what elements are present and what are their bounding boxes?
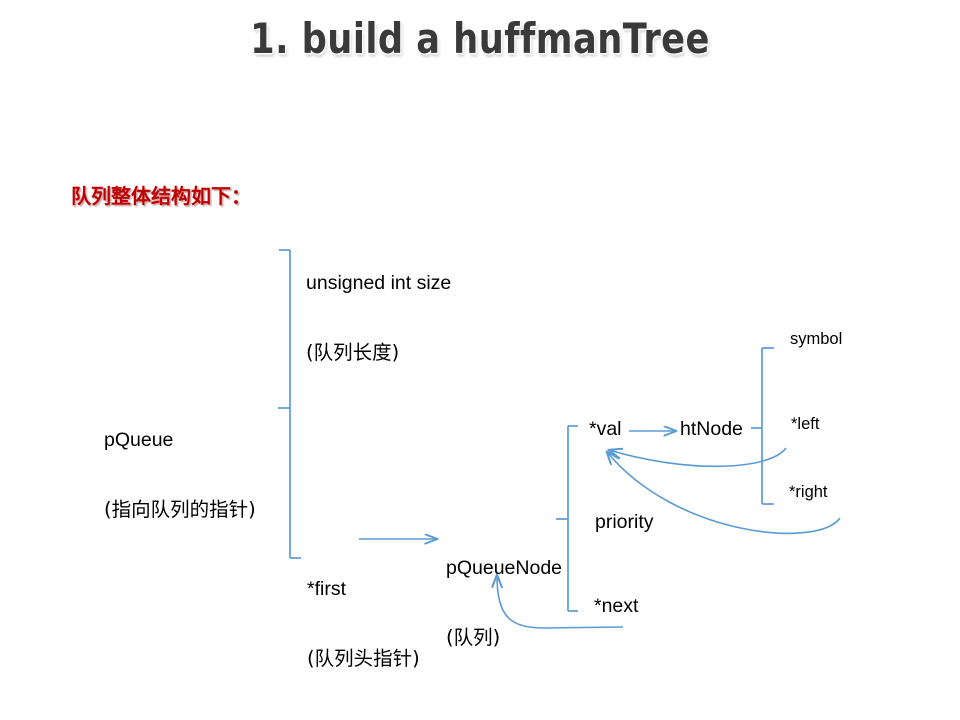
field-first: *first (队列头指针): [307, 532, 420, 716]
field-val: *val: [589, 418, 622, 441]
field-size-en: unsigned int size: [306, 272, 451, 295]
field-left: *left: [791, 415, 819, 434]
struct-pqueue-cn: (指向队列的指针): [104, 498, 256, 521]
struct-pqueue-en: pQueue: [104, 429, 256, 452]
field-first-en: *first: [307, 578, 420, 601]
arrow-left-to-val: [609, 448, 786, 466]
field-symbol: symbol: [790, 330, 842, 349]
section-heading: 队列整体结构如下：: [71, 180, 251, 209]
struct-htnode: htNode: [680, 418, 743, 441]
field-first-cn: (队列头指针): [307, 647, 420, 670]
field-size-cn: (队列长度): [306, 341, 451, 364]
field-next: *next: [594, 595, 638, 618]
struct-pqueue: pQueue (指向队列的指针): [104, 383, 256, 567]
slide-canvas: 1. build a huffmanTree 队列整体结构如下：: [0, 0, 960, 720]
struct-pqueuenode-en: pQueueNode: [446, 557, 562, 580]
page-title: 1. build a huffmanTree: [77, 14, 883, 63]
brace-pqueue: [278, 250, 301, 558]
struct-pqueuenode: pQueueNode (队列): [446, 511, 562, 695]
struct-pqueuenode-cn: (队列): [446, 626, 562, 649]
field-priority: priority: [595, 511, 654, 534]
field-size: unsigned int size (队列长度): [306, 226, 451, 410]
brace-htnode: [751, 348, 774, 504]
field-right: *right: [789, 483, 828, 502]
